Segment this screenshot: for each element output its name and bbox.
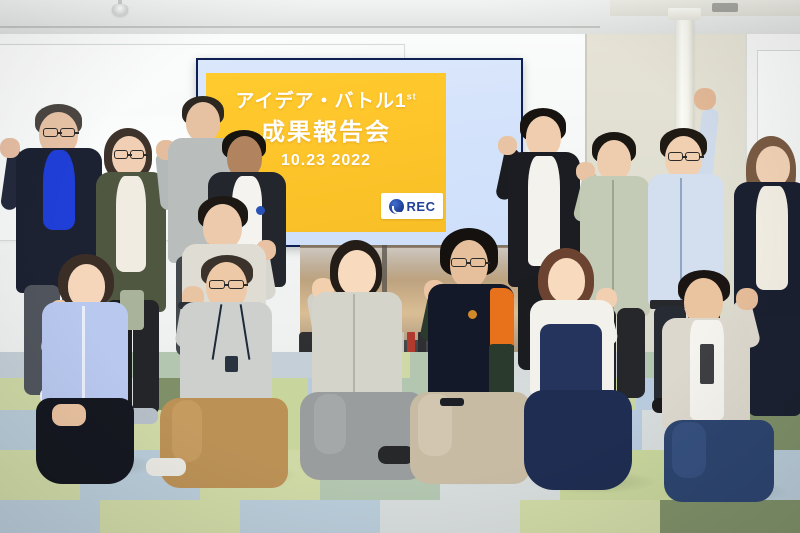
glasses-icon bbox=[114, 150, 128, 159]
torso-blouse bbox=[42, 302, 128, 410]
leg-front bbox=[172, 400, 202, 462]
leg bbox=[617, 308, 645, 398]
shoe bbox=[378, 446, 414, 464]
slide-title-line1: アイデア・バトル1st bbox=[206, 86, 446, 113]
glasses-icon bbox=[209, 280, 225, 289]
floor-tile bbox=[240, 500, 380, 533]
floor-tile bbox=[100, 500, 240, 533]
head bbox=[338, 250, 376, 296]
blouse-placket bbox=[82, 306, 85, 404]
glasses-icon bbox=[60, 128, 75, 137]
logo-badge bbox=[256, 206, 265, 215]
pinafore-skirt bbox=[524, 390, 632, 490]
ceiling-duct bbox=[610, 0, 800, 16]
sleeve-orange-panel bbox=[490, 288, 514, 348]
fist bbox=[498, 136, 517, 155]
sprinkler-icon bbox=[112, 4, 128, 16]
tee-print bbox=[700, 344, 714, 384]
zipper bbox=[353, 294, 355, 394]
floor-tile bbox=[380, 500, 520, 533]
leg-front bbox=[672, 422, 706, 478]
rec-logo-text: REC bbox=[407, 199, 436, 214]
glasses-icon bbox=[668, 152, 683, 161]
torso-fleece bbox=[312, 292, 402, 404]
leg-front bbox=[314, 394, 346, 454]
head bbox=[756, 146, 790, 187]
chest-logo bbox=[468, 310, 477, 319]
pinafore-bib bbox=[540, 324, 602, 400]
floor-tile bbox=[0, 500, 100, 533]
fist bbox=[694, 88, 716, 110]
hands bbox=[52, 404, 86, 426]
head bbox=[548, 258, 585, 303]
ceiling-vent bbox=[712, 3, 738, 12]
id-badge bbox=[225, 356, 238, 372]
inner-blouse bbox=[756, 186, 788, 290]
glasses-icon bbox=[130, 150, 144, 159]
fist bbox=[736, 288, 758, 310]
shoe bbox=[146, 458, 186, 476]
slide-title-line1-text: アイデア・バトル1 bbox=[235, 91, 406, 112]
glasses-icon bbox=[43, 128, 58, 137]
group-photo: アイデア・バトル1st 成果報告会 10.23 2022 REC bbox=[0, 0, 800, 533]
glasses-icon bbox=[685, 152, 700, 161]
floor-tile bbox=[660, 500, 800, 533]
floor-tile bbox=[520, 500, 660, 533]
slide-title-superscript: st bbox=[407, 92, 417, 102]
watch bbox=[440, 398, 464, 406]
glasses-icon bbox=[228, 280, 244, 289]
ceiling-seam bbox=[0, 26, 600, 28]
inner-top bbox=[116, 176, 146, 272]
head bbox=[597, 140, 631, 181]
head bbox=[186, 102, 220, 142]
glasses-icon bbox=[470, 258, 486, 267]
glasses-icon bbox=[451, 258, 467, 267]
rec-mark-icon bbox=[389, 199, 404, 214]
rec-logo: REC bbox=[381, 193, 443, 219]
inner-shirt bbox=[43, 150, 75, 230]
pillar-cap bbox=[668, 8, 701, 20]
